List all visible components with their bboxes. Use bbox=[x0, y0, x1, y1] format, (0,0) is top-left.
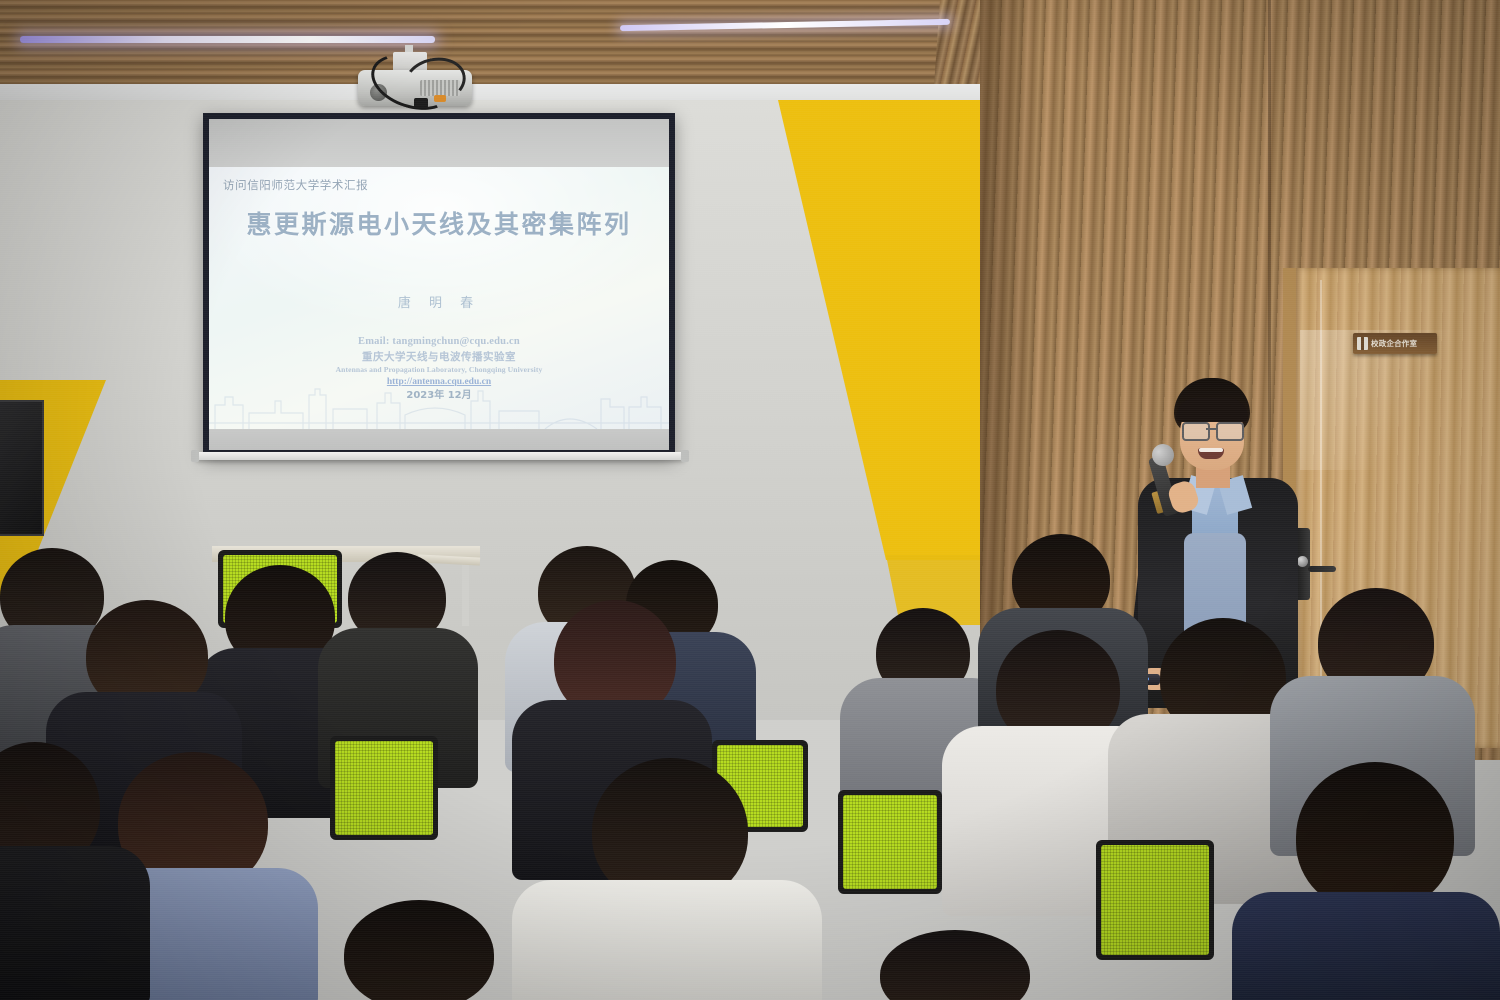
presentation-slide: 访问信阳师范大学学术汇报 惠更斯源电小天线及其密集阵列 唐 明 春 Email:… bbox=[209, 167, 669, 429]
slide-author: 唐 明 春 bbox=[209, 292, 669, 311]
slide-title: 惠更斯源电小天线及其密集阵列 bbox=[209, 205, 669, 241]
ceiling-light-strip-1 bbox=[20, 36, 435, 43]
slide-lab-en: Antennas and Propagation Laboratory, Cho… bbox=[209, 365, 669, 376]
screen-blank-bottom bbox=[209, 429, 669, 450]
attendee-head bbox=[1296, 762, 1454, 912]
screen-bar-cap-right bbox=[681, 450, 689, 462]
table-leg bbox=[462, 560, 469, 626]
slide-footer: Email: tangmingchun@cqu.edu.cn 重庆大学天线与电波… bbox=[209, 335, 669, 403]
attendee-body bbox=[0, 846, 150, 1000]
attendee-body bbox=[1232, 892, 1500, 1000]
attendee-head bbox=[344, 900, 494, 1000]
speaker-fringe bbox=[1176, 398, 1248, 422]
glasses-left-lens-icon bbox=[1182, 422, 1210, 441]
slide-lab-cn: 重庆大学天线与电波传播实验室 bbox=[209, 350, 669, 365]
door-plaque-label: 校政企合作室 bbox=[1371, 338, 1417, 349]
building-icon bbox=[1357, 337, 1368, 350]
speaker-teeth bbox=[1199, 448, 1223, 452]
audience-chair[interactable] bbox=[838, 790, 942, 894]
projector-glow bbox=[209, 167, 669, 350]
screen-bottom-bar bbox=[195, 452, 685, 460]
audience-chair[interactable] bbox=[330, 736, 438, 840]
attendee-head bbox=[880, 930, 1030, 1000]
slide-date: 2023年 12月 bbox=[209, 389, 669, 403]
audience-chair[interactable] bbox=[1096, 840, 1214, 960]
door-plaque: 校政企合作室 bbox=[1353, 333, 1437, 354]
slide-url: http://antenna.cqu.edu.cn bbox=[209, 376, 669, 389]
slide-email: Email: tangmingchun@cqu.edu.cn bbox=[209, 335, 669, 350]
attendee-body bbox=[512, 880, 822, 1000]
glasses-bridge bbox=[1206, 428, 1216, 430]
slide-header: 访问信阳师范大学学术汇报 bbox=[223, 177, 368, 193]
screen-bar-cap-left bbox=[191, 450, 199, 462]
wall-monitor bbox=[0, 400, 44, 536]
lecture-room-photo: 访问信阳师范大学学术汇报 惠更斯源电小天线及其密集阵列 唐 明 春 Email:… bbox=[0, 0, 1500, 1000]
screen-blank-top bbox=[209, 119, 669, 167]
glasses-right-lens-icon bbox=[1216, 422, 1244, 441]
projection-screen: 访问信阳师范大学学术汇报 惠更斯源电小天线及其密集阵列 唐 明 春 Email:… bbox=[203, 113, 675, 456]
